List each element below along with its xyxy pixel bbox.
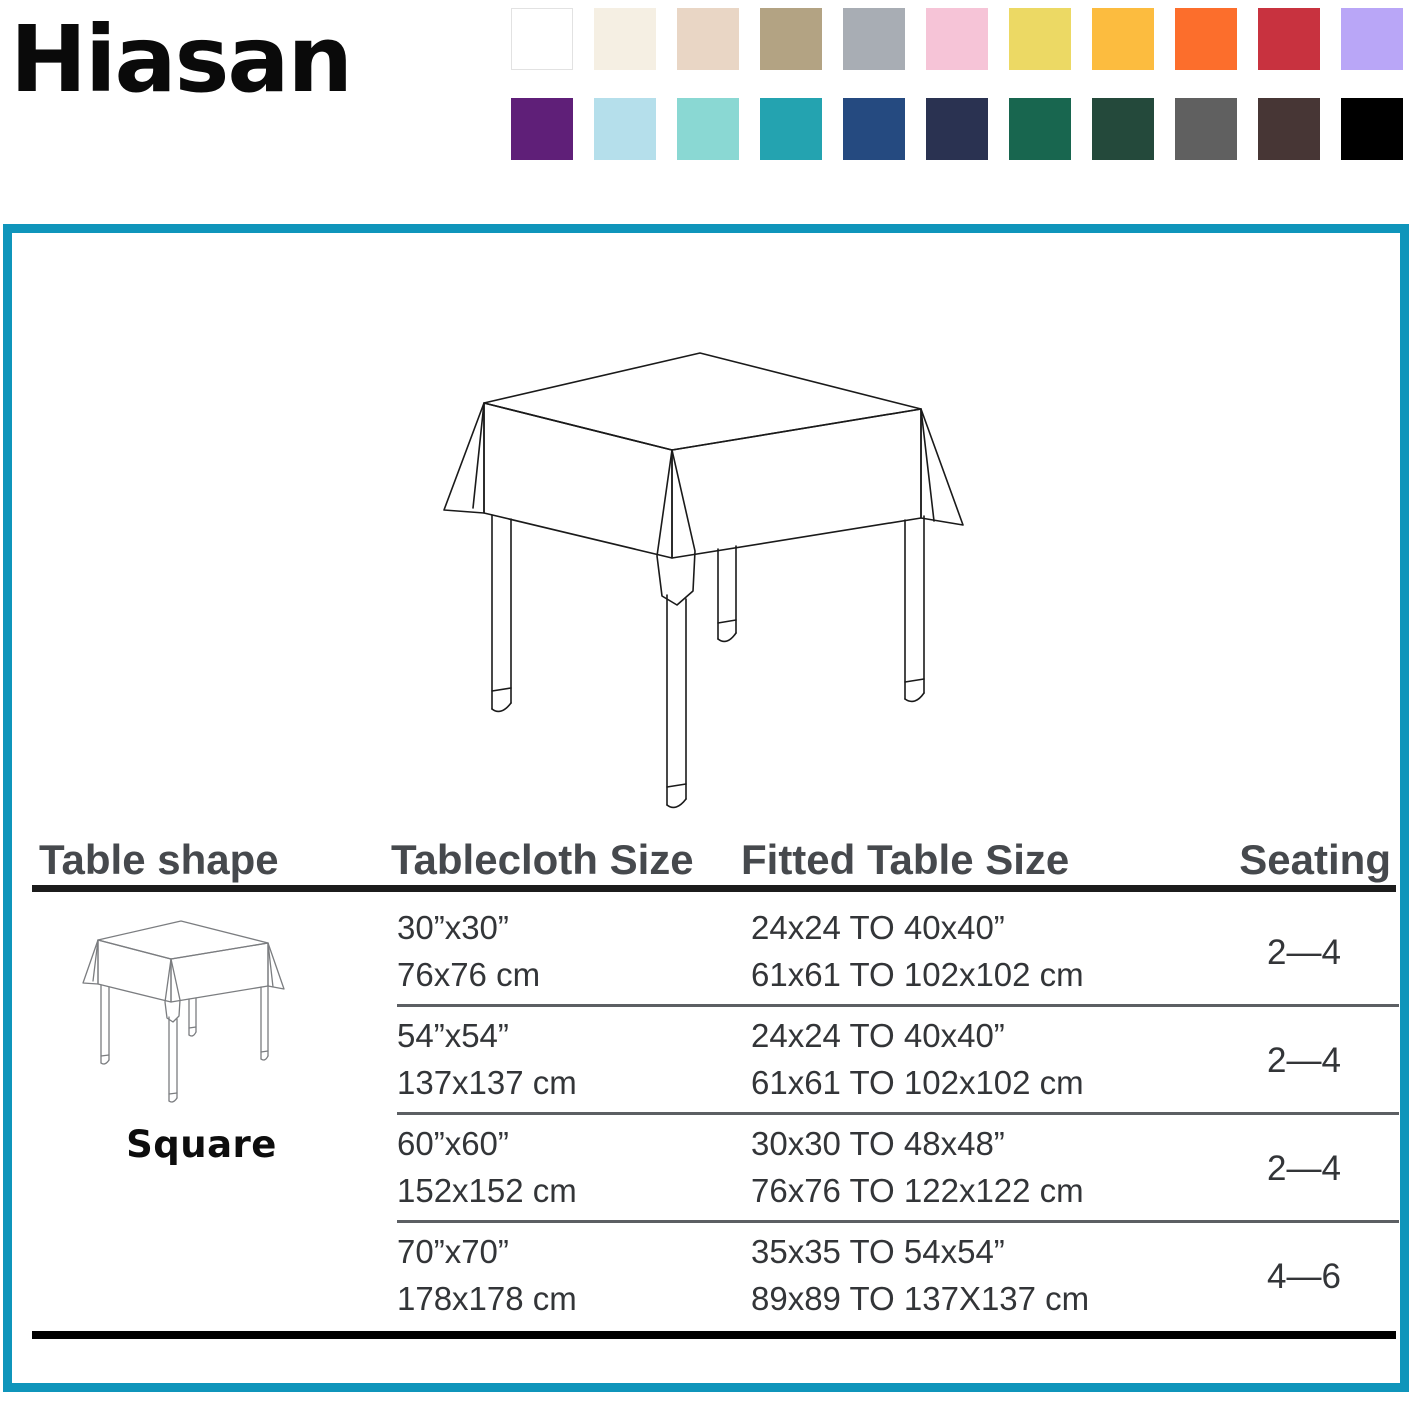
- color-swatch-lavender[interactable]: [1341, 8, 1403, 70]
- table-row: 54”x54”137x137 cm24x24 TO 40x40”61x61 TO…: [29, 1007, 1399, 1115]
- color-swatch-dark-brown[interactable]: [1258, 98, 1320, 160]
- table-bottom-divider: [32, 1331, 1396, 1339]
- tablecloth-size-cm: 76x76 cm: [397, 952, 540, 999]
- cell-seating: 4—6: [1209, 1223, 1399, 1331]
- cell-tablecloth-size: 60”x60”152x152 cm: [397, 1121, 577, 1215]
- cell-fitted-table-size: 30x30 TO 48x48”76x76 TO 122x122 cm: [751, 1121, 1084, 1215]
- fitted-size-cm: 76x76 TO 122x122 cm: [751, 1168, 1084, 1215]
- color-swatch-red[interactable]: [1258, 8, 1320, 70]
- color-swatch-purple[interactable]: [511, 98, 573, 160]
- tablecloth-size-inches: 54”x54”: [397, 1017, 509, 1054]
- cell-seating: 2—4: [1209, 1115, 1399, 1223]
- color-swatch-black[interactable]: [1341, 98, 1403, 160]
- column-header-table-shape: Table shape: [39, 839, 279, 881]
- color-swatch-dark-gray[interactable]: [1175, 98, 1237, 160]
- tablecloth-size-cm: 137x137 cm: [397, 1060, 577, 1107]
- color-swatch-khaki[interactable]: [760, 8, 822, 70]
- color-swatch-baby-blue[interactable]: [594, 98, 656, 160]
- table-row: 30”x30”76x76 cm24x24 TO 40x40”61x61 TO 1…: [29, 899, 1399, 1007]
- color-swatch-white[interactable]: [511, 8, 573, 70]
- fitted-size-cm: 61x61 TO 102x102 cm: [751, 952, 1084, 999]
- table-body: 30”x30”76x76 cm24x24 TO 40x40”61x61 TO 1…: [29, 899, 1399, 1331]
- column-header-fitted-table-size: Fitted Table Size: [741, 839, 1069, 881]
- tablecloth-size-cm: 152x152 cm: [397, 1168, 577, 1215]
- size-guide-panel: Table shape Tablecloth Size Fitted Table…: [3, 224, 1409, 1392]
- cell-tablecloth-size: 70”x70”178x178 cm: [397, 1229, 577, 1323]
- square-table-illustration: [429, 343, 999, 813]
- size-spec-table: Table shape Tablecloth Size Fitted Table…: [29, 813, 1399, 1343]
- cell-fitted-table-size: 24x24 TO 40x40”61x61 TO 102x102 cm: [751, 1013, 1084, 1107]
- color-swatch-marigold[interactable]: [1092, 8, 1154, 70]
- column-header-seating: Seating: [1239, 839, 1391, 881]
- header-divider: [32, 885, 1396, 892]
- color-swatch-light-pink[interactable]: [926, 8, 988, 70]
- color-swatch-teal[interactable]: [760, 98, 822, 160]
- swatch-row-2: [511, 98, 1411, 162]
- tablecloth-size-inches: 30”x30”: [397, 909, 509, 946]
- swatch-row-1: [511, 8, 1411, 72]
- cell-tablecloth-size: 30”x30”76x76 cm: [397, 905, 540, 999]
- color-swatch-emerald[interactable]: [1009, 98, 1071, 160]
- fitted-size-inches: 24x24 TO 40x40”: [751, 909, 1005, 946]
- color-swatch-aqua-mint[interactable]: [677, 98, 739, 160]
- color-swatch-beige[interactable]: [677, 8, 739, 70]
- table-header-row: Table shape Tablecloth Size Fitted Table…: [29, 813, 1399, 881]
- cell-seating: 2—4: [1209, 1007, 1399, 1115]
- brand-header: Hiasan: [0, 0, 1416, 200]
- color-swatch-grid: [511, 8, 1411, 168]
- tablecloth-size-inches: 70”x70”: [397, 1233, 509, 1270]
- color-swatch-navy-blue[interactable]: [843, 98, 905, 160]
- cell-fitted-table-size: 35x35 TO 54x54”89x89 TO 137X137 cm: [751, 1229, 1089, 1323]
- color-swatch-yellow[interactable]: [1009, 8, 1071, 70]
- cell-tablecloth-size: 54”x54”137x137 cm: [397, 1013, 577, 1107]
- table-row: 60”x60”152x152 cm30x30 TO 48x48”76x76 TO…: [29, 1115, 1399, 1223]
- color-swatch-forest-green[interactable]: [1092, 98, 1154, 160]
- color-swatch-orange[interactable]: [1175, 8, 1237, 70]
- tablecloth-size-cm: 178x178 cm: [397, 1276, 577, 1323]
- fitted-size-inches: 24x24 TO 40x40”: [751, 1017, 1005, 1054]
- table-row: 70”x70”178x178 cm35x35 TO 54x54”89x89 TO…: [29, 1223, 1399, 1331]
- color-swatch-ivory[interactable]: [594, 8, 656, 70]
- fitted-size-cm: 89x89 TO 137X137 cm: [751, 1276, 1089, 1323]
- brand-logo: Hiasan: [10, 14, 351, 106]
- color-swatch-silver-gray[interactable]: [843, 8, 905, 70]
- cell-seating: 2—4: [1209, 899, 1399, 1007]
- column-header-tablecloth-size: Tablecloth Size: [391, 839, 694, 881]
- color-swatch-dark-navy[interactable]: [926, 98, 988, 160]
- fitted-size-inches: 35x35 TO 54x54”: [751, 1233, 1005, 1270]
- cell-fitted-table-size: 24x24 TO 40x40”61x61 TO 102x102 cm: [751, 905, 1084, 999]
- tablecloth-size-inches: 60”x60”: [397, 1125, 509, 1162]
- fitted-size-cm: 61x61 TO 102x102 cm: [751, 1060, 1084, 1107]
- fitted-size-inches: 30x30 TO 48x48”: [751, 1125, 1005, 1162]
